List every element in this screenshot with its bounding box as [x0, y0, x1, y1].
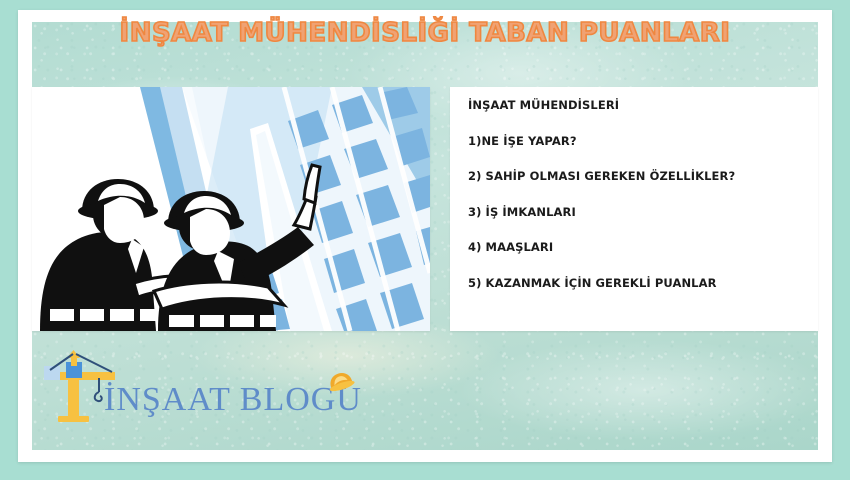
- page-title: İNŞAAT MÜHENDİSLİĞİ TABAN PUANLARI: [0, 18, 850, 48]
- list-item: 1)NE İŞE YAPAR?: [468, 136, 818, 148]
- info-text-panel: İNŞAAT MÜHENDİSLERİ 1)NE İŞE YAPAR? 2) S…: [450, 87, 818, 331]
- logo-text: İNŞAAT BLOGU: [104, 381, 362, 418]
- illustration-panel: [32, 87, 430, 331]
- page-title-text: İNŞAAT MÜHENDİSLİĞİ TABAN PUANLARI: [120, 18, 731, 48]
- engineers-illustration: [32, 87, 430, 331]
- list-item: 4) MAAŞLARI: [468, 242, 818, 254]
- list-item: 3) İŞ İMKANLARI: [468, 207, 818, 219]
- slide-canvas: İNŞAAT MÜHENDİSLİĞİ TABAN PUANLARI: [0, 0, 850, 480]
- list-heading: İNŞAAT MÜHENDİSLERİ: [468, 100, 818, 112]
- brand-logo: İNŞAAT BLOGU: [42, 348, 372, 426]
- logo-artwork: İNŞAAT BLOGU: [42, 348, 372, 426]
- list-item: 2) SAHİP OLMASI GEREKEN ÖZELLİKLER?: [468, 171, 818, 183]
- list-item: 5) KAZANMAK İÇİN GEREKLİ PUANLAR: [468, 278, 818, 290]
- content-panels: İNŞAAT MÜHENDİSLERİ 1)NE İŞE YAPAR? 2) S…: [32, 87, 818, 331]
